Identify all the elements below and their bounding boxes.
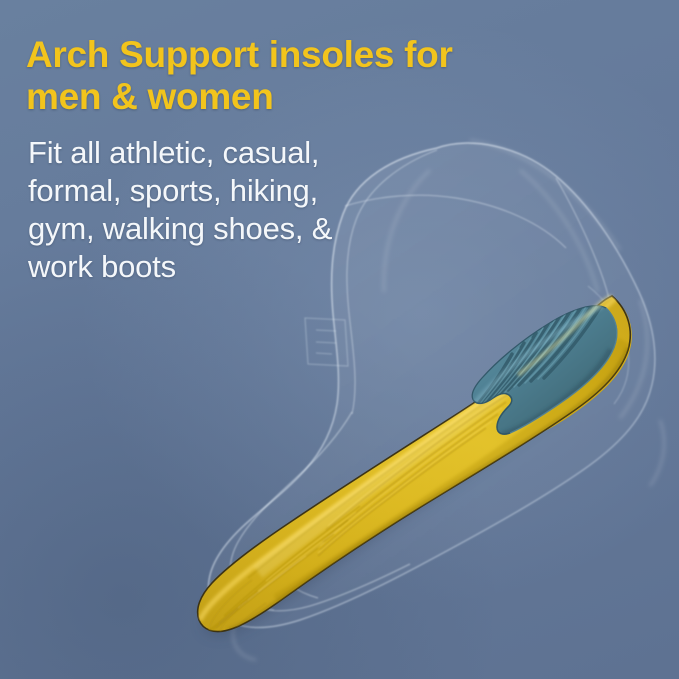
headline-line-2: men & women	[26, 76, 566, 118]
page-title: Arch Support insoles for men & women	[26, 34, 566, 118]
subcopy-line-4: work boots	[28, 248, 388, 286]
product-image-canvas: Arch Support insoles for men & women Fit…	[0, 0, 679, 679]
subcopy-line-1: Fit all athletic, casual,	[28, 134, 388, 172]
subcopy-text: Fit all athletic, casual, formal, sports…	[28, 134, 388, 286]
marketing-copy-block: Arch Support insoles for men & women Fit…	[26, 34, 566, 286]
subcopy-line-3: gym, walking shoes, &	[28, 210, 388, 248]
subcopy-line-2: formal, sports, hiking,	[28, 172, 388, 210]
headline-line-1: Arch Support insoles for	[26, 34, 453, 75]
